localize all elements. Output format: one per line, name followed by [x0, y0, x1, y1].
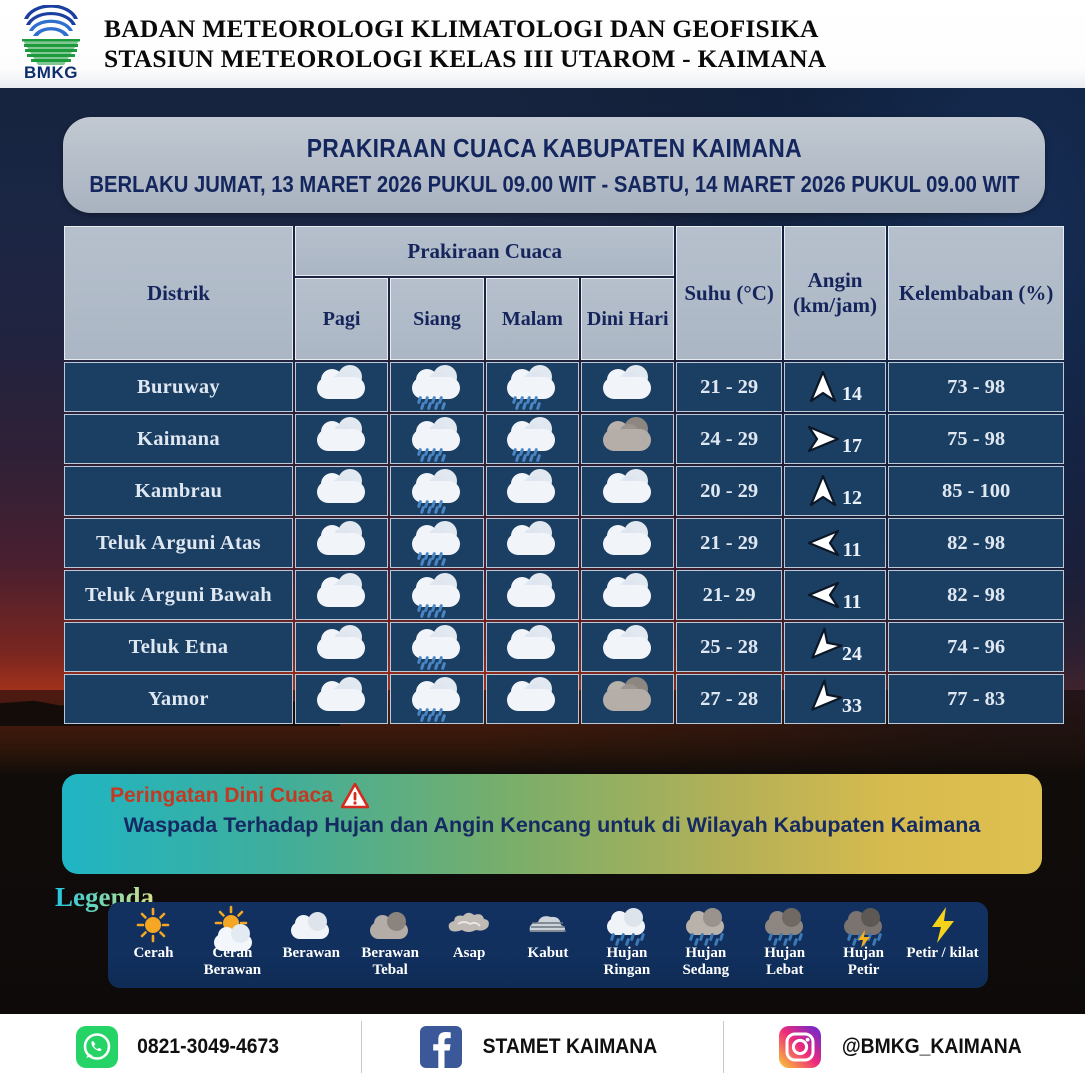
cell-pagi [295, 466, 388, 516]
th-dini-hari: Dini Hari [581, 278, 674, 360]
cell-pagi [295, 674, 388, 724]
cell-district: Teluk Arguni Bawah [64, 570, 293, 620]
cell-suhu: 21 - 29 [676, 362, 781, 412]
cell-district: Kambrau [64, 466, 293, 516]
cell-suhu: 21- 29 [676, 570, 781, 620]
cell-dini-hari [581, 362, 674, 412]
hujan-ringan-icon [501, 363, 563, 405]
legend-item-label: Berawan Tebal [352, 945, 428, 978]
cell-pagi [295, 414, 388, 464]
legend-item-label: Hujan Ringan [589, 945, 665, 978]
berawan-icon [501, 519, 563, 561]
rain-drops [418, 656, 458, 672]
cell-dini-hari [581, 622, 674, 672]
cell-angin: 11 [784, 570, 886, 620]
bmkg-logo-label: BMKG [14, 63, 88, 83]
berawan-icon [597, 519, 659, 561]
legend-bar: CerahCerah BerawanBerawanBerawan TebalAs… [108, 902, 988, 988]
table-row: Yamor27 - 283377 - 83 [64, 674, 1064, 724]
cell-district: Buruway [64, 362, 293, 412]
light-rain-icon [589, 906, 665, 944]
rain-drops [513, 396, 553, 412]
cell-siang [390, 466, 483, 516]
berawan-icon [597, 363, 659, 405]
agency-title-block: BADAN METEOROLOGI KLIMATOLOGI DAN GEOFIS… [104, 14, 826, 73]
cell-malam [486, 674, 579, 724]
table-row: Buruway21 - 291473 - 98 [64, 362, 1064, 412]
cell-angin: 33 [784, 674, 886, 724]
cell-kelembaban: 75 - 98 [888, 414, 1064, 464]
heavy-rain-icon [747, 906, 823, 944]
berawan-icon [597, 623, 659, 665]
cell-malam [486, 570, 579, 620]
legend-item: Hujan Sedang [668, 906, 744, 978]
legend-item: Petir / kilat [905, 906, 981, 962]
warning-header: Peringatan Dini Cuaca [110, 783, 1022, 809]
berawan-icon [501, 571, 563, 613]
th-suhu: Suhu (°C) [676, 226, 781, 360]
th-siang: Siang [390, 278, 483, 360]
wind-direction-arrow [808, 631, 838, 663]
cell-angin: 24 [784, 622, 886, 672]
cell-pagi [295, 622, 388, 672]
cell-suhu: 27 - 28 [676, 674, 781, 724]
cell-dini-hari [581, 570, 674, 620]
cell-siang [390, 518, 483, 568]
cell-pagi [295, 518, 388, 568]
wind-direction-arrow [809, 527, 839, 559]
legend-item-label: Cerah [115, 945, 191, 962]
cell-malam [486, 518, 579, 568]
forecast-title-banner: PRAKIRAAN CUACA KABUPATEN KAIMANA BERLAK… [63, 117, 1045, 213]
cell-pagi [295, 362, 388, 412]
forecast-title: PRAKIRAAN CUACA KABUPATEN KAIMANA [306, 133, 801, 164]
forecast-validity: BERLAKU JUMAT, 13 MARET 2026 PUKUL 09.00… [89, 171, 1019, 198]
rain-drops [513, 448, 553, 464]
table-row: Teluk Etna25 - 282474 - 96 [64, 622, 1064, 672]
cell-siang [390, 570, 483, 620]
legend-item: Cerah [115, 906, 191, 962]
cell-malam [486, 466, 579, 516]
wind-direction-arrow [808, 683, 838, 715]
wind-direction-arrow [808, 423, 838, 455]
cell-malam [486, 362, 579, 412]
cell-district: Teluk Arguni Atas [64, 518, 293, 568]
cell-dini-hari [581, 518, 674, 568]
th-pagi: Pagi [295, 278, 388, 360]
forecast-table: Distrik Prakiraan Cuaca Suhu (°C) Angin … [62, 224, 1066, 726]
weather-forecast-infographic: BMKG BADAN METEOROLOGI KLIMATOLOGI DAN G… [0, 0, 1085, 1079]
cell-suhu: 25 - 28 [676, 622, 781, 672]
wind-speed-value: 24 [842, 643, 862, 670]
cell-siang [390, 362, 483, 412]
berawan-icon [501, 467, 563, 509]
legend-item: Berawan Tebal [352, 906, 428, 978]
cell-district: Teluk Etna [64, 622, 293, 672]
rain-drops [418, 396, 458, 412]
cell-kelembaban: 82 - 98 [888, 518, 1064, 568]
cell-suhu: 21 - 29 [676, 518, 781, 568]
berawan-icon [311, 363, 373, 405]
whatsapp-icon[interactable] [76, 1026, 118, 1068]
hujan-ringan-icon [501, 415, 563, 457]
legend-item: Berawan [273, 906, 349, 962]
sun-cloud-icon [194, 906, 270, 944]
warning-label: Peringatan Dini Cuaca [110, 784, 333, 808]
legend-item-label: Asap [431, 945, 507, 962]
rain-drops [418, 708, 458, 724]
legend-item: Hujan Lebat [747, 906, 823, 978]
hujan-ringan-icon [406, 675, 468, 717]
smoke-icon [431, 906, 507, 944]
cell-pagi [295, 570, 388, 620]
page-header: BMKG BADAN METEOROLOGI KLIMATOLOGI DAN G… [0, 0, 1085, 88]
wind-speed-value: 11 [843, 539, 862, 566]
th-kelembaban: Kelembaban (%) [888, 226, 1064, 360]
contact-footer: 0821-3049-4673STAMET KAIMANA@BMKG_KAIMAN… [0, 1014, 1085, 1079]
wind-direction-arrow [808, 371, 838, 403]
lightning-icon [905, 906, 981, 944]
legend-item: Cerah Berawan [194, 906, 270, 978]
contact-item[interactable]: @BMKG_KAIMANA [723, 1021, 1085, 1073]
legend-item: Hujan Petir [826, 906, 902, 978]
rain-drops [418, 500, 458, 516]
berawan-icon [311, 623, 373, 665]
cell-angin: 14 [784, 362, 886, 412]
agency-name-line2: STASIUN METEOROLOGI KELAS III UTAROM - K… [104, 44, 826, 74]
hujan-ringan-icon [406, 415, 468, 457]
table-row: Kambrau20 - 291285 - 100 [64, 466, 1064, 516]
hujan-ringan-icon [406, 467, 468, 509]
wind-direction-arrow [808, 475, 838, 507]
berawan-tebal-icon [597, 675, 659, 717]
th-district: Distrik [64, 226, 293, 360]
berawan-icon [311, 415, 373, 457]
legend-item-label: Kabut [510, 945, 586, 962]
contact-item[interactable]: 0821-3049-4673 [0, 1021, 361, 1073]
moderate-rain-icon [668, 906, 744, 944]
cell-malam [486, 414, 579, 464]
legend-item-label: Petir / kilat [905, 945, 981, 962]
table-head: Distrik Prakiraan Cuaca Suhu (°C) Angin … [64, 226, 1064, 360]
fog-icon [510, 906, 586, 944]
warning-text: Waspada Terhadap Hujan dan Angin Kencang… [82, 811, 1022, 839]
wind-speed-value: 33 [842, 695, 862, 722]
cell-dini-hari [581, 674, 674, 724]
berawan-icon [311, 571, 373, 613]
table-body: Buruway21 - 291473 - 98Kaimana24 - 29177… [64, 362, 1064, 724]
table-header-row-1: Distrik Prakiraan Cuaca Suhu (°C) Angin … [64, 226, 1064, 276]
warning-triangle-icon [341, 783, 369, 809]
legend-item-label: Berawan [273, 945, 349, 962]
hujan-ringan-icon [406, 571, 468, 613]
hujan-ringan-icon [406, 519, 468, 561]
berawan-icon [311, 519, 373, 561]
berawan-icon [311, 467, 373, 509]
cell-dini-hari [581, 414, 674, 464]
bmkg-logo: BMKG [14, 5, 88, 83]
dark-cloud-icon [352, 906, 428, 944]
thunderstorm-icon [826, 906, 902, 944]
berawan-icon [501, 623, 563, 665]
rain-drops [418, 604, 458, 620]
cell-kelembaban: 77 - 83 [888, 674, 1064, 724]
berawan-tebal-icon [597, 415, 659, 457]
cell-kelembaban: 85 - 100 [888, 466, 1064, 516]
cell-kelembaban: 74 - 96 [888, 622, 1064, 672]
berawan-icon [597, 571, 659, 613]
wind-direction-arrow [809, 579, 839, 611]
th-malam: Malam [486, 278, 579, 360]
berawan-icon [597, 467, 659, 509]
cell-suhu: 20 - 29 [676, 466, 781, 516]
cell-siang [390, 622, 483, 672]
rain-drops [418, 448, 458, 464]
cell-siang [390, 674, 483, 724]
cell-angin: 17 [784, 414, 886, 464]
bmkg-logo-mark [14, 5, 88, 67]
wind-speed-value: 11 [843, 591, 862, 618]
cell-siang [390, 414, 483, 464]
legend-item: Hujan Ringan [589, 906, 665, 978]
forecast-table-container: Distrik Prakiraan Cuaca Suhu (°C) Angin … [62, 224, 1066, 726]
wind-speed-value: 17 [842, 435, 862, 462]
table-row: Kaimana24 - 291775 - 98 [64, 414, 1064, 464]
wind-speed-value: 14 [842, 383, 862, 410]
legend-item: Kabut [510, 906, 586, 962]
hujan-ringan-icon [406, 623, 468, 665]
hujan-ringan-icon [406, 363, 468, 405]
facebook-icon[interactable] [420, 1026, 462, 1068]
cell-district: Kaimana [64, 414, 293, 464]
legend-item: Asap [431, 906, 507, 962]
agency-name-line1: BADAN METEOROLOGI KLIMATOLOGI DAN GEOFIS… [104, 14, 826, 44]
contact-value: 0821-3049-4673 [137, 1035, 279, 1059]
cell-angin: 12 [784, 466, 886, 516]
instagram-icon[interactable] [779, 1026, 821, 1068]
th-forecast-group: Prakiraan Cuaca [295, 226, 675, 276]
cell-dini-hari [581, 466, 674, 516]
contact-value: @BMKG_KAIMANA [842, 1035, 1022, 1059]
table-row: Teluk Arguni Bawah21- 291182 - 98 [64, 570, 1064, 620]
cell-district: Yamor [64, 674, 293, 724]
early-warning-box: Peringatan Dini Cuaca Waspada Terhadap H… [62, 774, 1042, 874]
legend-item-label: Hujan Lebat [747, 945, 823, 978]
legend-item-label: Hujan Sedang [668, 945, 744, 978]
cell-kelembaban: 82 - 98 [888, 570, 1064, 620]
wind-speed-value: 12 [842, 487, 862, 514]
rain-drops [418, 552, 458, 568]
table-row: Teluk Arguni Atas21 - 291182 - 98 [64, 518, 1064, 568]
cell-angin: 11 [784, 518, 886, 568]
berawan-icon [311, 675, 373, 717]
contact-item[interactable]: STAMET KAIMANA [361, 1021, 723, 1073]
contact-value: STAMET KAIMANA [483, 1035, 658, 1059]
cell-kelembaban: 73 - 98 [888, 362, 1064, 412]
berawan-icon [501, 675, 563, 717]
cell-malam [486, 622, 579, 672]
th-angin: Angin (km/jam) [784, 226, 886, 360]
cell-suhu: 24 - 29 [676, 414, 781, 464]
cloud-icon [273, 906, 349, 944]
sun-icon [115, 906, 191, 944]
